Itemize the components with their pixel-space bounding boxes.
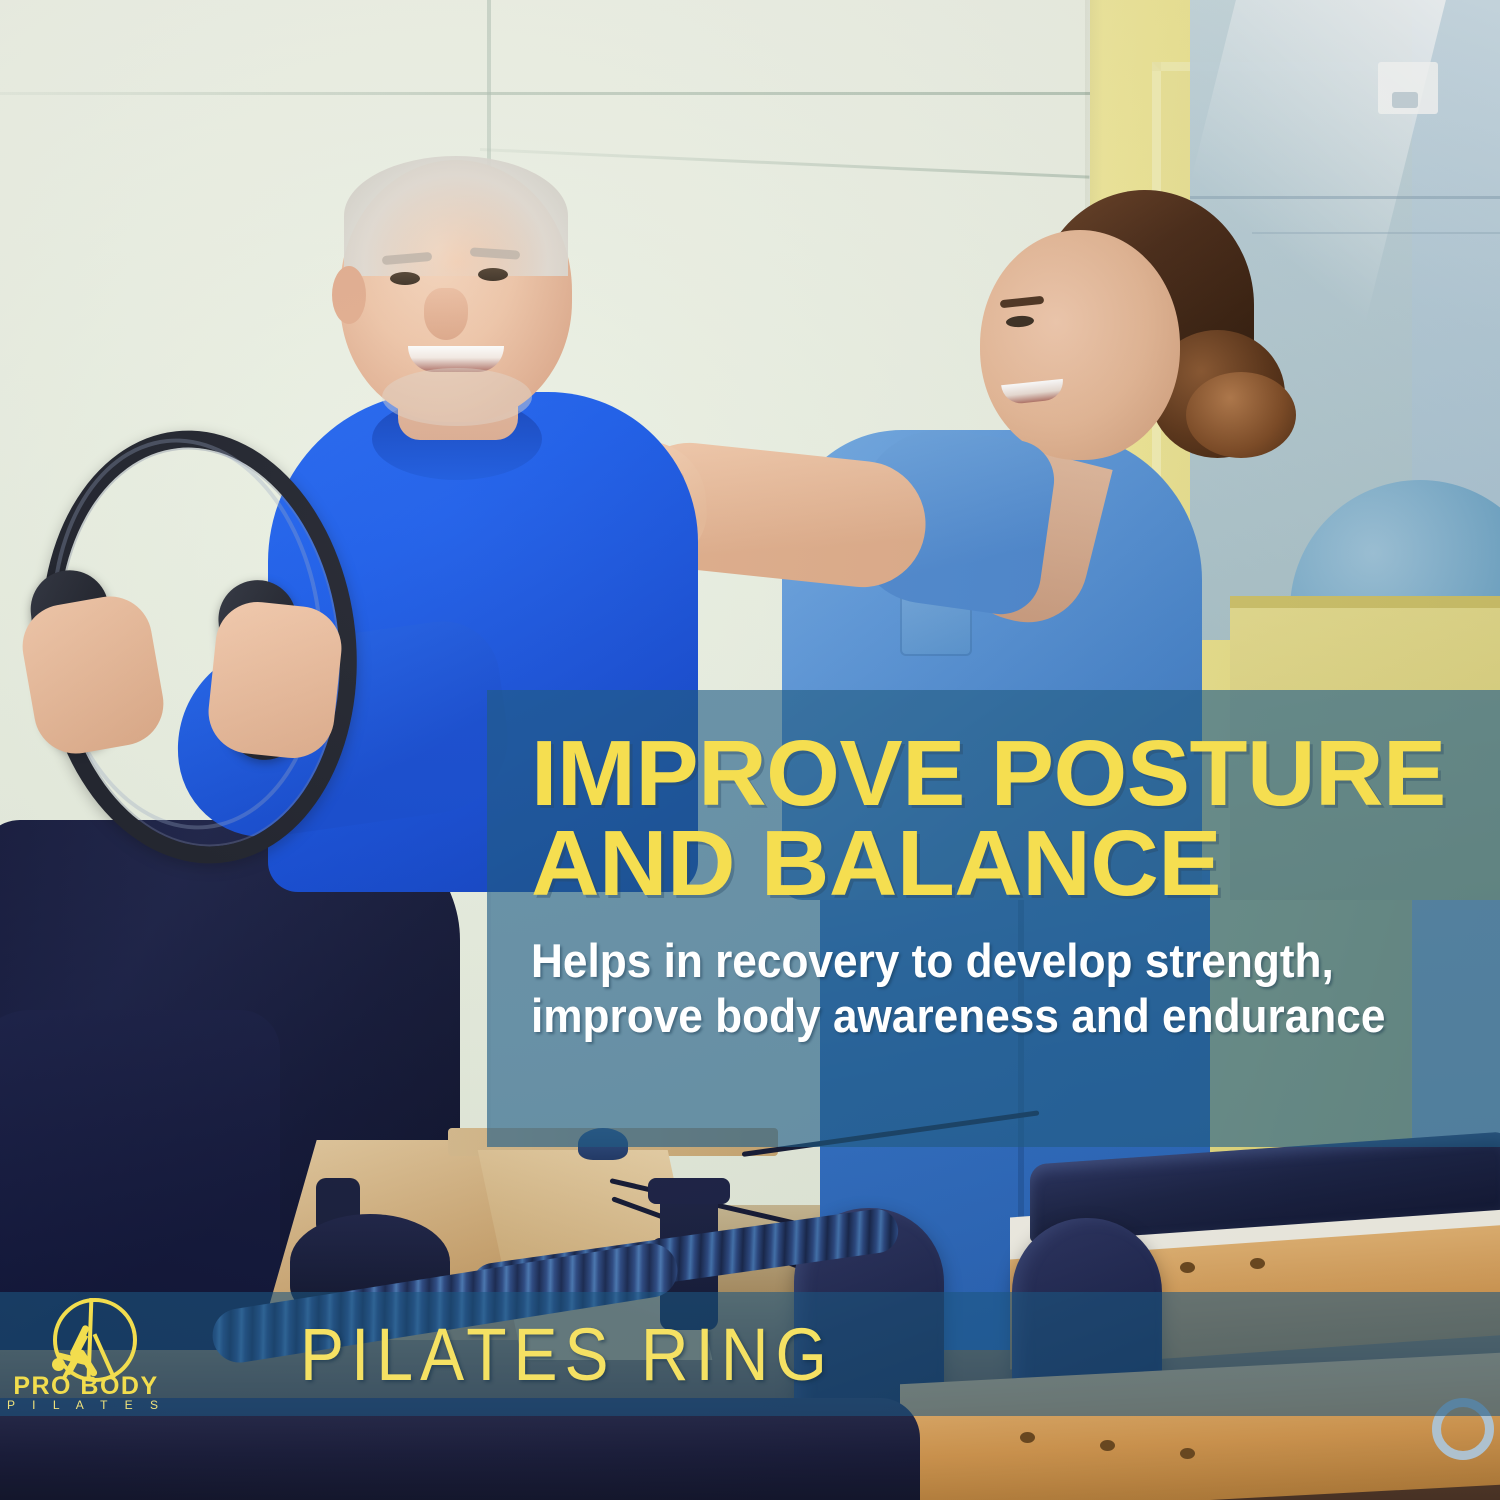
- therapist-hair-bun-highlight: [1186, 372, 1296, 458]
- wall-notice-sign: [1378, 62, 1438, 114]
- wall-seam-horizontal: [0, 92, 1090, 95]
- man-ear: [332, 266, 366, 324]
- product-name-label: PILATES RING: [300, 1311, 834, 1396]
- logo-figure-head: [52, 1358, 65, 1371]
- pro-body-pilates-logo: PRO BODY P I L A T E S: [0, 1292, 170, 1416]
- logo-subwordmark: P I L A T E S: [6, 1399, 166, 1411]
- man-eye: [390, 272, 420, 285]
- man-chin-stubble: [382, 368, 532, 426]
- cabinet-edge: [1230, 596, 1500, 608]
- frame-hole: [1250, 1258, 1265, 1269]
- man-hand-right: [204, 598, 345, 762]
- mirror-frame-line-2: [1252, 232, 1500, 234]
- brand-bar: PRO BODY P I L A T E S PILATES RING: [0, 1292, 1500, 1416]
- frame-hole: [1180, 1448, 1195, 1459]
- frame-hole: [1020, 1432, 1035, 1443]
- man-nose: [424, 288, 468, 340]
- logo-yoga-figure-icon: [62, 1322, 120, 1376]
- headline-text: IMPROVE POSTURE AND BALANCE: [531, 728, 1479, 908]
- man-eye: [478, 268, 508, 281]
- therapist-face: [980, 230, 1180, 460]
- subtext-description: Helps in recovery to develop strength, i…: [531, 934, 1404, 1043]
- product-marketing-poster: IMPROVE POSTURE AND BALANCE Helps in rec…: [0, 0, 1500, 1500]
- frame-hole: [1100, 1440, 1115, 1451]
- headline-overlay-panel: IMPROVE POSTURE AND BALANCE Helps in rec…: [487, 690, 1500, 1147]
- man-hair: [344, 156, 568, 276]
- frame-hole: [1180, 1262, 1195, 1273]
- logo-wordmark: PRO BODY: [6, 1374, 166, 1399]
- mirror-frame-line: [1190, 196, 1500, 199]
- reformer-post-cap: [648, 1178, 730, 1204]
